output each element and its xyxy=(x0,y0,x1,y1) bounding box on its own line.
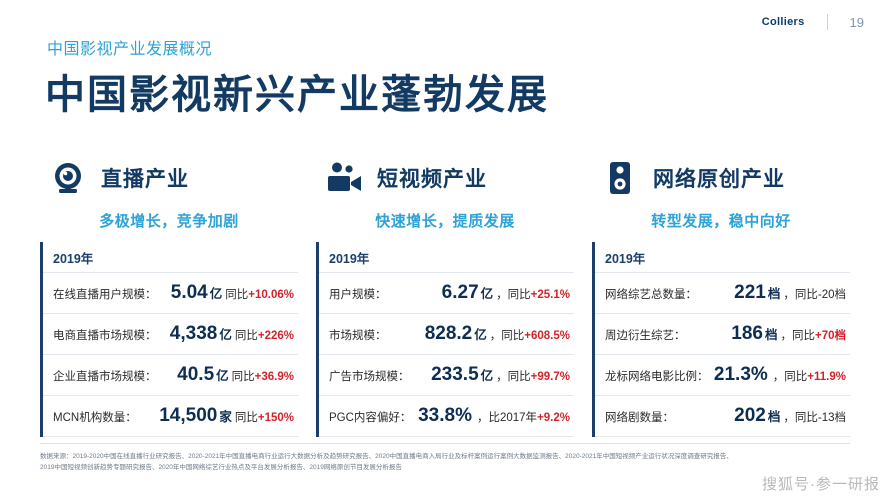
slide: Colliers 19 中国影视产业发展概况 中国影视新兴产业蓬勃发展 xyxy=(0,0,888,500)
row-delta: +70档 xyxy=(815,327,846,343)
row-value: 21.3% xyxy=(714,364,768,386)
row-unit: 档 xyxy=(768,406,781,425)
row-value: 5.04 xyxy=(171,282,208,304)
table-row: MCN机构数量： 14,500 家 同比 +150% xyxy=(43,395,298,437)
column-web-original: 网络原创产业 转型发展，稳中向好 2019年 网络综艺总数量： 221 档 ，同… xyxy=(592,155,850,430)
row-delta: +99.7% xyxy=(531,371,570,383)
row-label: 龙标网络电影比例： xyxy=(605,368,709,384)
column-subtitle: 快速增长，提质发展 xyxy=(316,210,574,231)
column-subtitle: 多极增长，竞争加剧 xyxy=(40,210,298,231)
row-delta: -20档 xyxy=(818,286,846,302)
table-row: 电商直播市场规模： 4,338 亿 同比 +226% xyxy=(43,313,298,354)
row-compare: ，同比 xyxy=(783,286,818,302)
table-row: 企业直播市场规模： 40.5 亿 同比 +36.9% xyxy=(43,354,298,395)
row-unit: 家 xyxy=(219,406,232,425)
row-value: 202 xyxy=(734,405,766,427)
row-unit: 亿 xyxy=(216,365,229,384)
row-label: 网络剧数量： xyxy=(605,409,674,425)
row-value: 186 xyxy=(731,323,763,345)
column-header: 直播产业 xyxy=(40,155,298,201)
row-delta: +150% xyxy=(258,412,294,424)
stats-panel: 2019年 网络综艺总数量： 221 档 ，同比 -20档 周边衍生综艺： 18… xyxy=(592,242,850,437)
web-original-speaker-icon xyxy=(600,158,640,198)
row-value: 221 xyxy=(734,282,766,304)
row-delta: +608.5% xyxy=(524,330,570,342)
row-value: 6.27 xyxy=(442,282,479,304)
footnote: 数据来源：2019-2020中国在线直播行业研究报告、2020-2021年中国直… xyxy=(40,452,840,473)
column-short-video: 短视频产业 快速增长，提质发展 2019年 用户规模： 6.27 亿 ，同比 +… xyxy=(316,155,574,430)
row-compare: 同比 xyxy=(232,368,255,384)
row-delta: +11.9% xyxy=(807,371,846,383)
row-compare: 同比 xyxy=(235,409,258,425)
brand-bar: Colliers 19 xyxy=(762,14,864,30)
row-value: 233.5 xyxy=(431,364,479,386)
table-row: PGC内容偏好： 33.8% ，比2017年 +9.2% xyxy=(319,395,574,437)
row-unit: 亿 xyxy=(481,365,494,384)
slide-kicker: 中国影视产业发展概况 xyxy=(47,35,212,59)
short-video-camera-icon xyxy=(324,158,364,198)
row-value: 40.5 xyxy=(177,364,214,386)
column-header: 短视频产业 xyxy=(316,155,574,201)
row-label: 广告市场规模： xyxy=(329,368,410,384)
row-compare: ，同比 xyxy=(490,327,525,343)
row-delta: +9.2% xyxy=(537,412,570,424)
row-compare: ，同比 xyxy=(496,286,531,302)
table-row: 市场规模： 828.2 亿 ，同比 +608.5% xyxy=(319,313,574,354)
stats-panel: 2019年 在线直播用户规模： 5.04 亿 同比 +10.06% 电商直播市场… xyxy=(40,242,298,437)
row-label: 周边衍生综艺： xyxy=(605,327,686,343)
row-unit: 亿 xyxy=(474,324,487,343)
column-live-broadcast: 直播产业 多极增长，竞争加剧 2019年 在线直播用户规模： 5.04 亿 同比… xyxy=(40,155,298,430)
table-row: 广告市场规模： 233.5 亿 ，同比 +99.7% xyxy=(319,354,574,395)
row-value: 33.8% xyxy=(418,405,472,427)
live-broadcast-camera-icon xyxy=(48,158,88,198)
row-delta: +226% xyxy=(258,330,294,342)
column-title: 短视频产业 xyxy=(377,163,487,193)
row-delta: +10.06% xyxy=(248,289,294,301)
footer-divider xyxy=(40,443,850,444)
row-label: 在线直播用户规模： xyxy=(53,286,157,302)
panel-year: 2019年 xyxy=(43,242,298,272)
page-title: 中国影视新兴产业蓬勃发展 xyxy=(45,62,549,120)
row-label: 电商直播市场规模： xyxy=(53,327,157,343)
column-subtitle: 转型发展，稳中向好 xyxy=(592,210,850,231)
row-unit: 档 xyxy=(765,324,778,343)
footnote-line-2: 2019中国短视频创新趋势专题研究报告、2020年中国网络综艺行业热点及平台发展… xyxy=(40,463,840,474)
row-value: 14,500 xyxy=(159,405,217,427)
row-delta: +25.1% xyxy=(531,289,570,301)
row-label: 企业直播市场规模： xyxy=(53,368,157,384)
row-compare: ，同比 xyxy=(496,368,531,384)
watermark: 搜狐号·参一研报 xyxy=(762,473,880,494)
brand-name: Colliers xyxy=(762,16,805,28)
row-compare: 同比 xyxy=(235,327,258,343)
row-value: 828.2 xyxy=(425,323,473,345)
column-title: 网络原创产业 xyxy=(653,163,785,193)
row-unit: 档 xyxy=(768,283,781,302)
stats-panel: 2019年 用户规模： 6.27 亿 ，同比 +25.1% 市场规模： 828.… xyxy=(316,242,574,437)
row-label: 用户规模： xyxy=(329,286,387,302)
page-number: 19 xyxy=(850,15,864,30)
brand-divider xyxy=(827,14,828,30)
row-compare: ，比2017年 xyxy=(477,409,537,425)
panel-year: 2019年 xyxy=(595,242,850,272)
panel-year: 2019年 xyxy=(319,242,574,272)
row-unit: 亿 xyxy=(219,324,232,343)
row-compare: ，同比 xyxy=(773,368,808,384)
row-value: 4,338 xyxy=(170,323,218,345)
row-compare: 同比 xyxy=(225,286,248,302)
row-compare: ，同比 xyxy=(780,327,815,343)
row-label: 网络综艺总数量： xyxy=(605,286,697,302)
table-row: 周边衍生综艺： 186 档 ，同比 +70档 xyxy=(595,313,850,354)
table-row: 在线直播用户规模： 5.04 亿 同比 +10.06% xyxy=(43,272,298,313)
row-label: 市场规模： xyxy=(329,327,387,343)
row-label: MCN机构数量： xyxy=(53,409,137,425)
column-title: 直播产业 xyxy=(101,163,189,193)
row-delta: -13档 xyxy=(818,409,846,425)
footnote-line-1: 数据来源：2019-2020中国在线直播行业研究报告、2020-2021年中国直… xyxy=(40,452,840,463)
table-row: 网络剧数量： 202 档 ，同比 -13档 xyxy=(595,395,850,437)
column-header: 网络原创产业 xyxy=(592,155,850,201)
table-row: 用户规模： 6.27 亿 ，同比 +25.1% xyxy=(319,272,574,313)
row-compare: ，同比 xyxy=(783,409,818,425)
row-delta: +36.9% xyxy=(255,371,294,383)
table-row: 龙标网络电影比例： 21.3% ，同比 +11.9% xyxy=(595,354,850,395)
row-unit: 亿 xyxy=(481,283,494,302)
columns-container: 直播产业 多极增长，竞争加剧 2019年 在线直播用户规模： 5.04 亿 同比… xyxy=(40,155,850,430)
table-row: 网络综艺总数量： 221 档 ，同比 -20档 xyxy=(595,272,850,313)
row-unit: 亿 xyxy=(210,283,223,302)
row-label: PGC内容偏好： xyxy=(329,409,411,425)
